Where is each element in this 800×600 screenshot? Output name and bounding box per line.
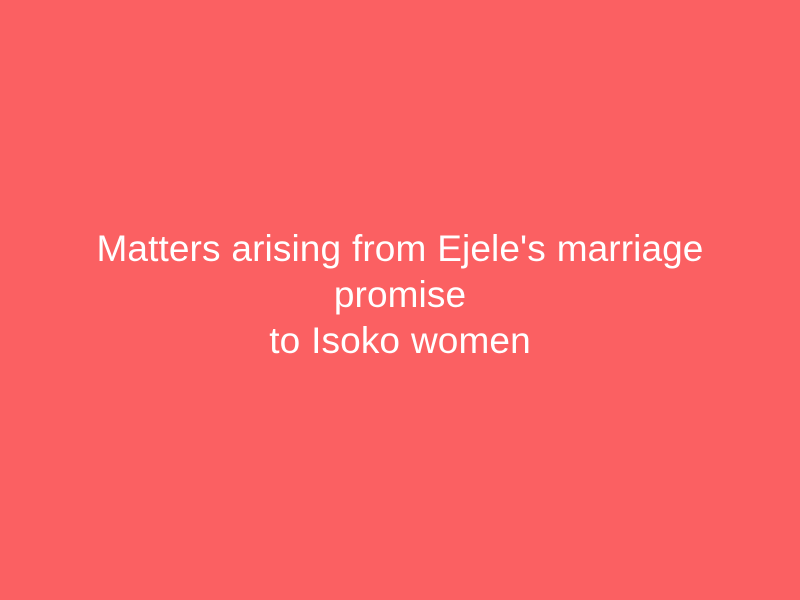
article-header-card: Matters arising from Ejele's marriage pr… bbox=[0, 0, 800, 600]
page-title: Matters arising from Ejele's marriage pr… bbox=[50, 226, 750, 364]
headline-block: Matters arising from Ejele's marriage pr… bbox=[50, 226, 750, 364]
